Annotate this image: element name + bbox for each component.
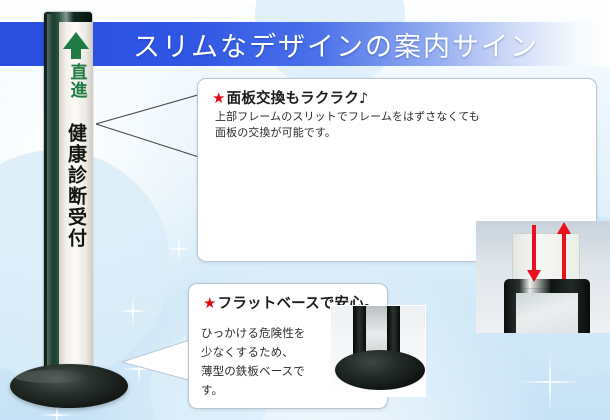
- photo-base-disc: [335, 350, 425, 390]
- sparkle-icon: [166, 236, 192, 262]
- photo-frame-window: [516, 293, 578, 333]
- callout-bottom-body-line1: ひっかける危険性を: [201, 324, 309, 343]
- arrow-down-icon: [532, 225, 536, 271]
- star-icon: ★: [203, 294, 217, 312]
- leader-line-top: [96, 86, 208, 162]
- callout-top-heading: ★面板交換もラクラク♪: [212, 87, 368, 108]
- sign-direction-text: 直進: [68, 63, 85, 99]
- base-highlight: [14, 370, 88, 383]
- callout-panel-exchange: ★面板交換もラクラク♪ 上部フレームのスリットでフレームをはずさなくても 面板の…: [197, 78, 597, 262]
- up-arrow-icon: [63, 32, 89, 49]
- leader-line-bottom: [122, 336, 196, 386]
- panel-slide-photo: [476, 221, 610, 333]
- star-icon: ★: [212, 89, 226, 107]
- callout-bottom-body-line2: 少なくするため、: [201, 343, 309, 362]
- photo-base-panel: [366, 306, 387, 356]
- flat-base-photo: [330, 305, 426, 397]
- poster-canvas: スリムなデザインの案内サイン 直進 健康診断受付 ★面板交換もラクラク♪ 上部フ…: [0, 0, 610, 420]
- guide-sign-product: 直進 健康診断受付: [36, 12, 102, 402]
- callout-bottom-body: ひっかける危険性を 少なくするため、 薄型の鉄板ベースです。: [201, 324, 309, 400]
- sign-panel: 直進 健康診断受付: [59, 22, 93, 374]
- callout-top-body-line1: 上部フレームのスリットでフレームをはずさなくても: [215, 109, 575, 125]
- sign-base: [10, 364, 128, 408]
- arrow-up-icon: [562, 233, 566, 279]
- sign-frame: 直進 健康診断受付: [44, 12, 92, 384]
- callout-top-body: 上部フレームのスリットでフレームをはずさなくても 面板の交換が可能です。: [215, 109, 575, 140]
- callout-bottom-body-line3: 薄型の鉄板ベースです。: [201, 362, 309, 400]
- sign-destination-text: 健康診断受付: [66, 123, 86, 249]
- callout-top-body-line2: 面板の交換が可能です。: [215, 125, 575, 141]
- photo-frame-body: [504, 279, 590, 333]
